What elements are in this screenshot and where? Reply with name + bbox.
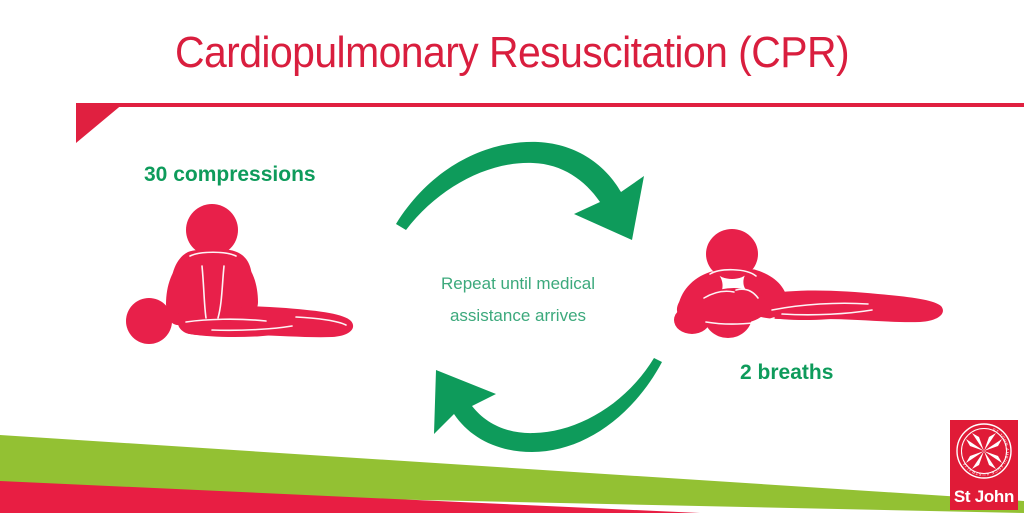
st-john-wordmark: St John xyxy=(950,484,1018,510)
center-instruction-text: Repeat until medical assistance arrives xyxy=(402,268,634,332)
arrow-clockwise-top xyxy=(392,132,654,242)
header-divider-line xyxy=(108,103,1024,107)
st-john-logo: ST JOHN AMBULANCE AUSTRALIA St John xyxy=(950,420,1018,510)
bottom-decorative-bands xyxy=(0,393,1024,513)
chest-compressions-pictogram xyxy=(126,204,366,356)
label-2-breaths: 2 breaths xyxy=(740,361,833,385)
header-flag-icon xyxy=(76,103,124,143)
maltese-cross-icon: ST JOHN AMBULANCE AUSTRALIA xyxy=(950,420,1018,486)
page-title: Cardiopulmonary Resuscitation (CPR) xyxy=(36,28,988,78)
st-john-emblem: ST JOHN AMBULANCE AUSTRALIA xyxy=(950,420,1018,486)
label-30-compressions: 30 compressions xyxy=(144,163,316,187)
center-instruction-line-1: Repeat until medical xyxy=(402,268,634,300)
cpr-infographic: Cardiopulmonary Resuscitation (CPR) xyxy=(0,0,1024,513)
center-instruction-line-2: assistance arrives xyxy=(402,300,634,332)
rescue-breaths-pictogram xyxy=(662,226,952,346)
